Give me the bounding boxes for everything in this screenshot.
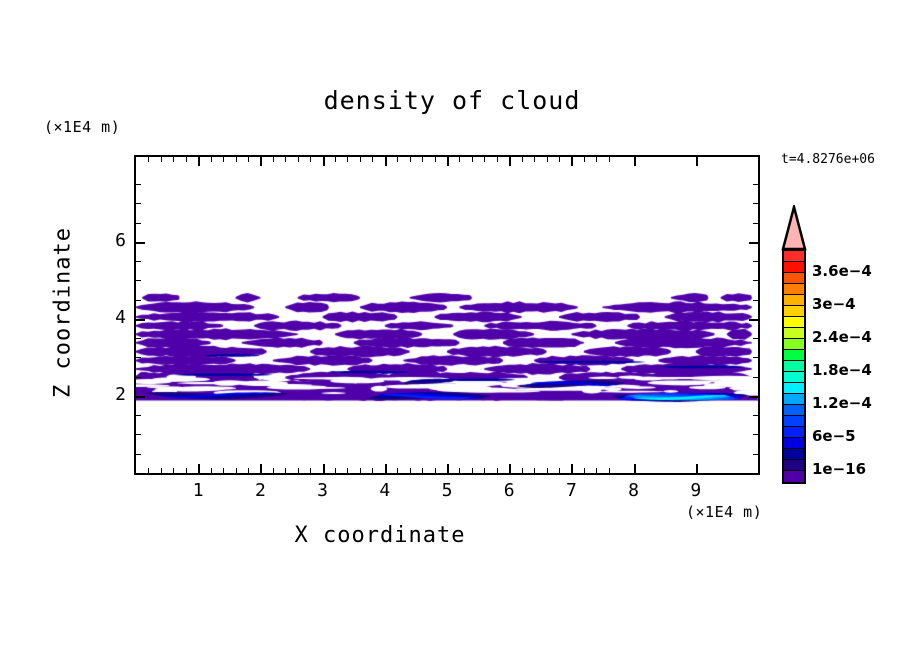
x-tick-minor-top [522, 157, 523, 162]
x-tick-minor-top [559, 157, 560, 162]
x-tick-minor [236, 468, 237, 473]
y-tick-label: 2 [96, 384, 126, 405]
x-tick-minor-top [273, 157, 274, 162]
colorbar-band [784, 383, 804, 394]
colorbar-band [784, 427, 804, 438]
colorbar-band [784, 350, 804, 361]
x-tick-minor [248, 468, 249, 473]
colorbar-band [784, 438, 804, 449]
colorbar-tick-label: 2.4e−4 [812, 328, 872, 346]
colorbar-band [784, 339, 804, 350]
x-tick-minor-top [335, 157, 336, 162]
x-tick-minor-top [472, 157, 473, 162]
page-title: density of cloud [0, 86, 904, 115]
colorbar-band [784, 251, 804, 262]
x-tick-major [571, 464, 573, 473]
time-annotation: t=4.8276e+06 [781, 152, 875, 167]
colorbar-band [784, 317, 804, 328]
y-tick-minor-right [753, 338, 758, 339]
x-tick-minor [161, 468, 162, 473]
y-tick-major [136, 319, 145, 321]
y-tick-minor [136, 261, 141, 262]
x-tick-label: 5 [432, 480, 462, 501]
x-tick-minor [211, 468, 212, 473]
colorbar-band [784, 273, 804, 284]
y-tick-major [136, 396, 145, 398]
colorbar-tick-label: 3.6e−4 [812, 262, 872, 280]
x-tick-major [696, 464, 698, 473]
x-tick-minor [360, 468, 361, 473]
y-tick-minor-right [753, 454, 758, 455]
colorbar-band [784, 361, 804, 372]
y-tick-minor [136, 377, 141, 378]
y-tick-major-right [749, 242, 758, 244]
colorbar-band [784, 416, 804, 427]
x-tick-minor-top [435, 157, 436, 162]
x-tick-minor-top [397, 157, 398, 162]
y-tick-minor-right [753, 357, 758, 358]
y-tick-minor [136, 203, 141, 204]
x-tick-minor-top [596, 157, 597, 162]
y-tick-minor-right [753, 261, 758, 262]
x-tick-minor [422, 468, 423, 473]
x-tick-minor-top [347, 157, 348, 162]
y-tick-minor-right [753, 377, 758, 378]
x-tick-minor [435, 468, 436, 473]
x-tick-minor-top [484, 157, 485, 162]
x-tick-minor [397, 468, 398, 473]
x-tick-minor [534, 468, 535, 473]
y-tick-major-right [749, 319, 758, 321]
y-tick-minor-right [753, 223, 758, 224]
x-tick-major-top [696, 157, 698, 166]
x-tick-minor [459, 468, 460, 473]
x-tick-minor-top [609, 157, 610, 162]
colorbar-band [784, 328, 804, 339]
x-tick-major-top [634, 157, 636, 166]
x-tick-minor [173, 468, 174, 473]
y-tick-minor-right [753, 184, 758, 185]
x-tick-label: 1 [183, 480, 213, 501]
x-tick-minor [285, 468, 286, 473]
x-tick-major-top [447, 157, 449, 166]
x-tick-minor-top [459, 157, 460, 162]
x-tick-major [260, 464, 262, 473]
x-tick-minor-top [148, 157, 149, 162]
x-tick-minor [559, 468, 560, 473]
colorbar-band [784, 449, 804, 460]
x-tick-minor-top [298, 157, 299, 162]
x-tick-minor-top [223, 157, 224, 162]
colorbar-band [784, 405, 804, 416]
x-tick-minor [310, 468, 311, 473]
x-tick-major [634, 464, 636, 473]
x-tick-minor [372, 468, 373, 473]
x-tick-minor-top [248, 157, 249, 162]
x-tick-label: 7 [556, 480, 586, 501]
x-tick-major [447, 464, 449, 473]
y-tick-minor [136, 454, 141, 455]
x-tick-minor [584, 468, 585, 473]
y-tick-minor [136, 184, 141, 185]
x-tick-minor [148, 468, 149, 473]
x-axis-title: X coordinate [0, 523, 760, 548]
y-tick-minor [136, 415, 141, 416]
x-tick-minor [335, 468, 336, 473]
y-tick-minor-right [753, 300, 758, 301]
x-tick-minor [273, 468, 274, 473]
colorbar-band [784, 460, 804, 471]
colorbar-band [784, 372, 804, 383]
y-tick-minor [136, 223, 141, 224]
y-tick-label: 4 [96, 307, 126, 328]
x-tick-minor-top [236, 157, 237, 162]
x-tick-minor [472, 468, 473, 473]
colorbar-arrow-icon [780, 205, 808, 251]
x-tick-major [198, 464, 200, 473]
contour-field [136, 157, 758, 473]
colorbar-band [784, 306, 804, 317]
y-tick-minor [136, 357, 141, 358]
x-tick-minor [223, 468, 224, 473]
x-tick-minor-top [422, 157, 423, 162]
x-tick-minor-top [584, 157, 585, 162]
colorbar-tick-label: 1.8e−4 [812, 361, 872, 379]
y-tick-major [136, 242, 145, 244]
x-tick-minor [609, 468, 610, 473]
x-tick-minor-top [534, 157, 535, 162]
x-axis-unit-label: (×1E4 m) [686, 503, 762, 521]
y-tick-major-right [749, 396, 758, 398]
x-tick-minor-top [161, 157, 162, 162]
y-tick-label: 6 [96, 230, 126, 251]
x-tick-minor-top [547, 157, 548, 162]
colorbar-band [784, 262, 804, 273]
colorbar-bands [782, 249, 806, 484]
x-tick-minor-top [497, 157, 498, 162]
y-tick-minor-right [753, 203, 758, 204]
x-tick-minor [484, 468, 485, 473]
y-tick-minor [136, 280, 141, 281]
x-tick-minor [347, 468, 348, 473]
x-tick-minor [497, 468, 498, 473]
x-tick-major-top [260, 157, 262, 166]
y-tick-minor-right [753, 434, 758, 435]
x-tick-label: 4 [370, 480, 400, 501]
y-axis-title: Z coordinate [51, 223, 76, 403]
colorbar-band [784, 295, 804, 306]
x-tick-major [509, 464, 511, 473]
colorbar-band [784, 471, 804, 482]
y-tick-minor [136, 300, 141, 301]
colorbar-tick-label: 3e−4 [812, 295, 856, 313]
contour-plot-area [134, 155, 760, 475]
y-tick-minor [136, 434, 141, 435]
x-tick-minor [522, 468, 523, 473]
x-tick-label: 6 [494, 480, 524, 501]
x-tick-label: 8 [619, 480, 649, 501]
x-tick-major-top [198, 157, 200, 166]
x-tick-minor-top [173, 157, 174, 162]
colorbar-tick-label: 1e−16 [812, 460, 866, 478]
x-tick-major [385, 464, 387, 473]
x-tick-minor-top [211, 157, 212, 162]
x-tick-major-top [509, 157, 511, 166]
x-tick-label: 2 [245, 480, 275, 501]
colorbar-tick-label: 1.2e−4 [812, 394, 872, 412]
x-tick-label: 3 [308, 480, 338, 501]
x-tick-label: 9 [681, 480, 711, 501]
colorbar-band [784, 394, 804, 405]
x-tick-minor [186, 468, 187, 473]
colorbar-tick-label: 6e−5 [812, 427, 856, 445]
x-tick-minor-top [360, 157, 361, 162]
x-tick-minor-top [410, 157, 411, 162]
y-tick-minor [136, 338, 141, 339]
x-tick-minor-top [310, 157, 311, 162]
y-axis-unit-label: (×1E4 m) [44, 118, 120, 136]
x-tick-minor [410, 468, 411, 473]
x-tick-minor-top [186, 157, 187, 162]
x-tick-major-top [571, 157, 573, 166]
x-tick-minor-top [372, 157, 373, 162]
colorbar-band [784, 284, 804, 295]
x-tick-minor-top [285, 157, 286, 162]
x-tick-minor [298, 468, 299, 473]
y-tick-minor-right [753, 415, 758, 416]
x-tick-major-top [323, 157, 325, 166]
x-tick-minor [596, 468, 597, 473]
y-tick-minor-right [753, 280, 758, 281]
x-tick-minor [547, 468, 548, 473]
x-tick-major [323, 464, 325, 473]
x-tick-major-top [385, 157, 387, 166]
